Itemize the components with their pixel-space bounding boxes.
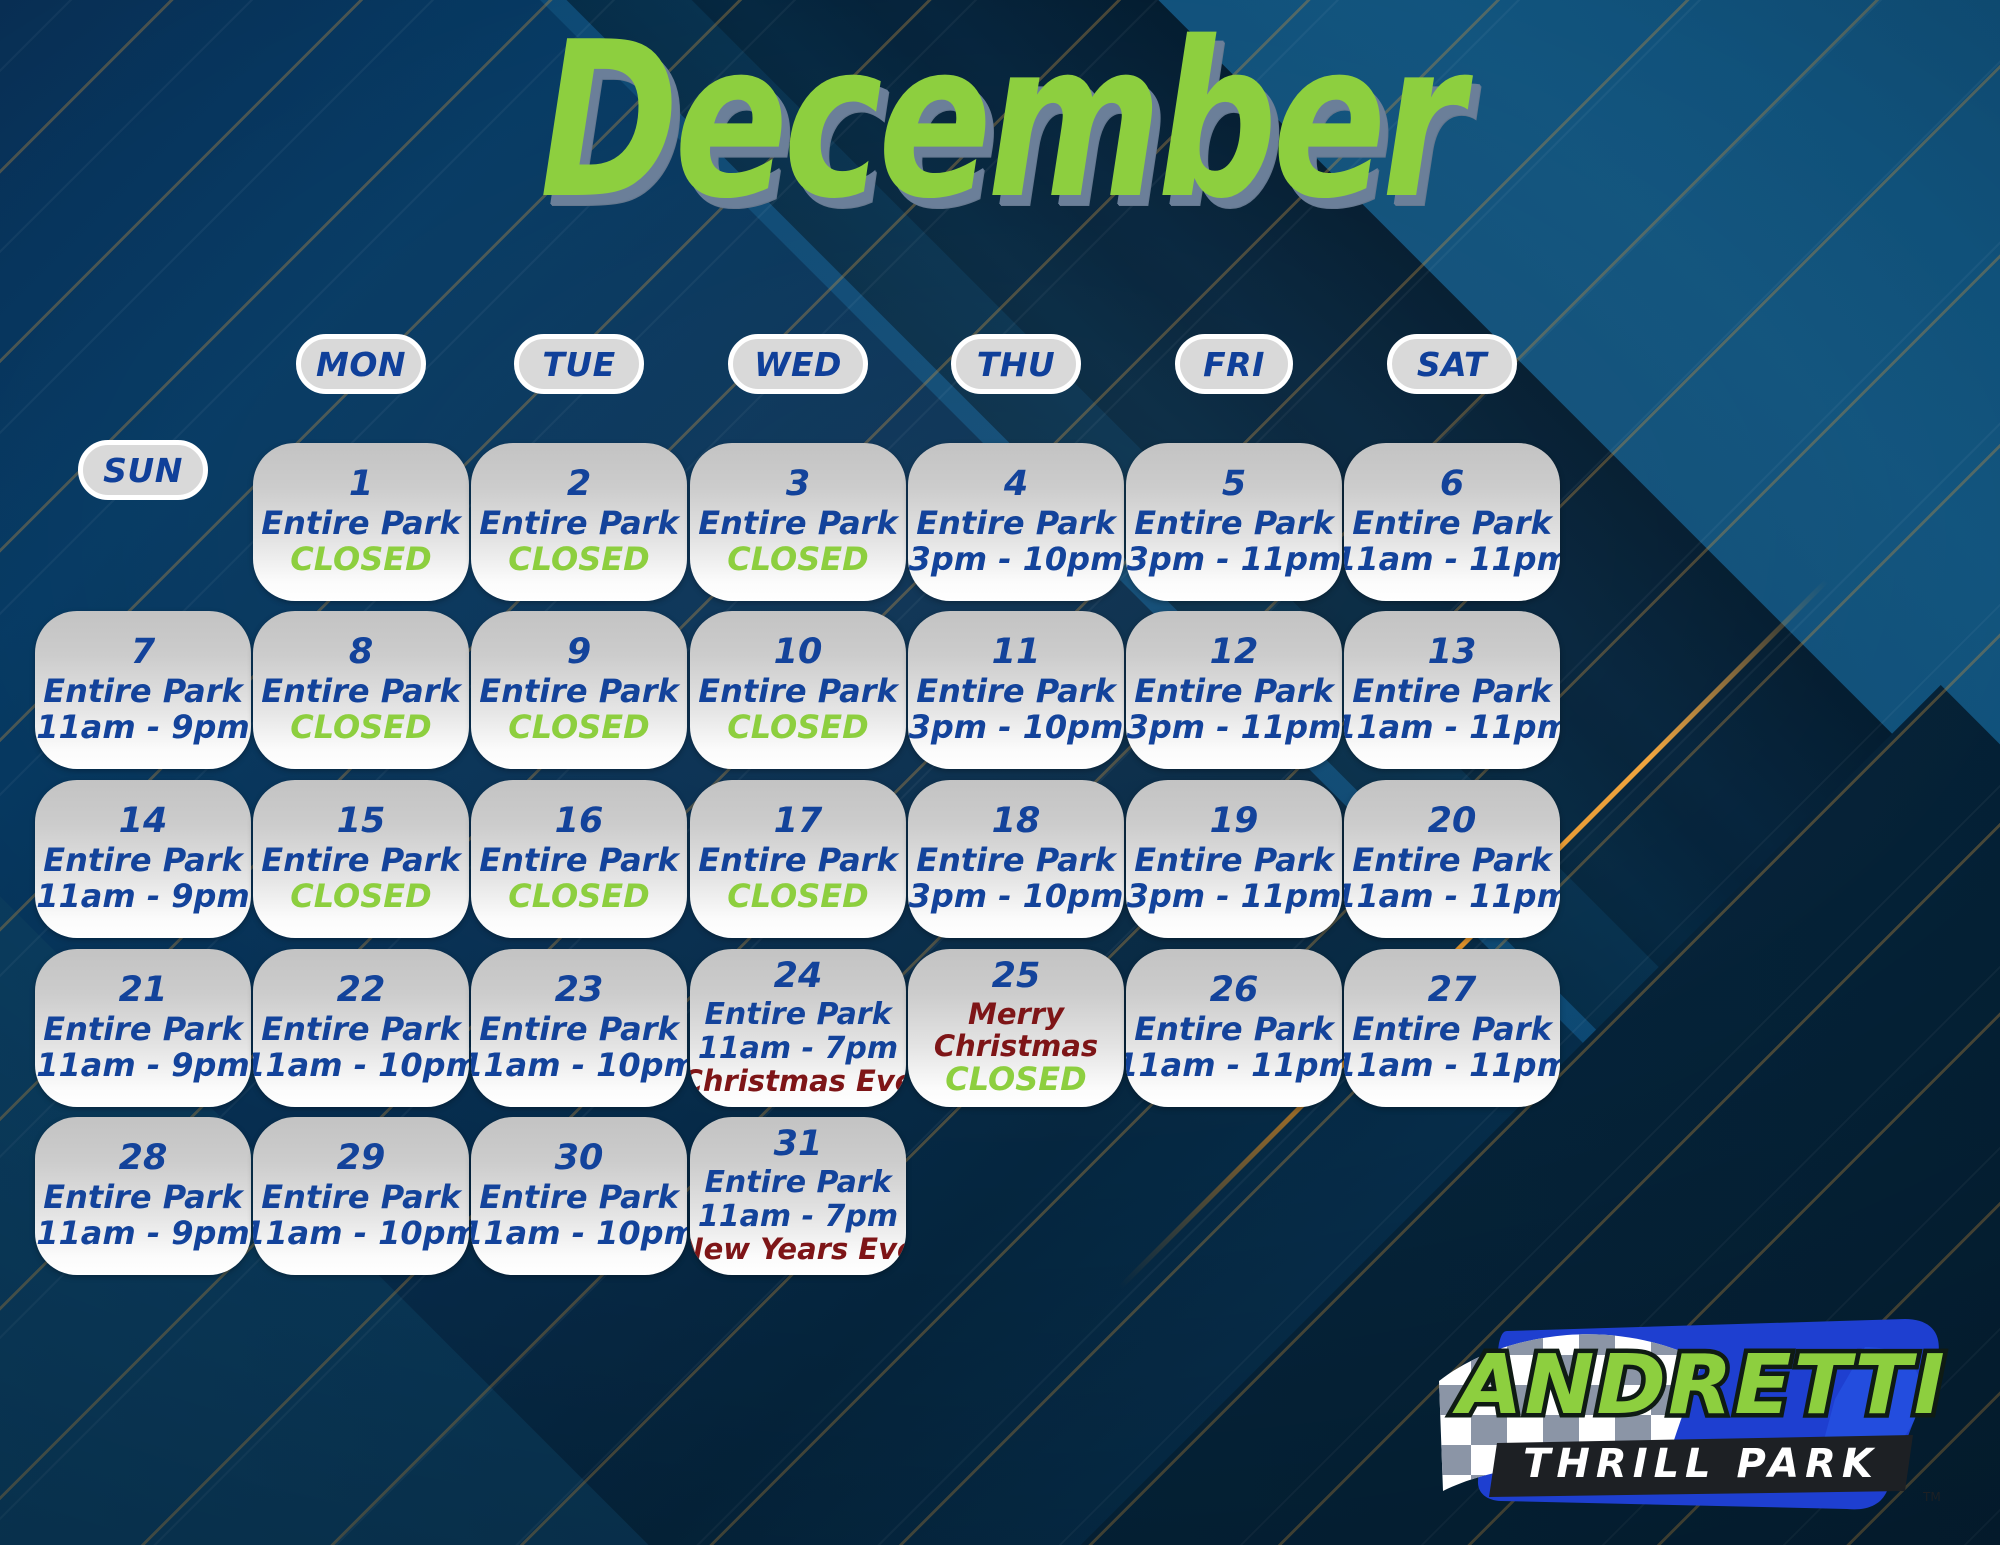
day-number: 1 — [349, 466, 373, 504]
day-cell-line: Merry — [968, 998, 1064, 1030]
day-cell-line: Entire Park — [916, 674, 1116, 710]
day-number: 19 — [1210, 803, 1259, 841]
day-header-wednesday: WED — [728, 334, 868, 394]
day-number: 4 — [1004, 466, 1028, 504]
day-header-tuesday: TUE — [514, 334, 644, 394]
day-number: 26 — [1210, 972, 1259, 1010]
logo-tagline-bar: THRILL PARK — [1489, 1435, 1913, 1497]
day-number: 2 — [567, 466, 591, 504]
day-cell-line: 3pm - 11pm — [1127, 879, 1342, 915]
calendar-day-cell[interactable]: 20Entire Park11am - 11pm — [1344, 780, 1560, 938]
day-cell-line: 11am - 7pm — [698, 1200, 898, 1234]
day-cell-line: Entire Park — [1134, 843, 1334, 879]
logo-svg: ANDRETTI THRILL PARK TM — [1435, 1295, 1955, 1530]
calendar-day-cell[interactable]: 16Entire ParkCLOSED — [471, 780, 687, 938]
day-cell-line: Entire Park — [43, 674, 243, 710]
day-cell-line: Entire Park — [1352, 506, 1552, 542]
day-cell-line: 11am - 9pm — [36, 710, 250, 746]
day-header-sunday: SUN — [78, 440, 208, 500]
day-cell-line: CLOSED — [508, 542, 649, 578]
day-cell-line: 11am - 10pm — [253, 1048, 469, 1084]
day-cell-line: Entire Park — [261, 1180, 461, 1216]
day-cell-line: 3pm - 11pm — [1127, 710, 1342, 746]
calendar-day-cell[interactable]: 25MerryChristmasCLOSED — [908, 949, 1124, 1107]
day-cell-line: Entire Park — [1352, 843, 1552, 879]
day-header-label: THU — [977, 345, 1055, 384]
day-cell-line: 11am - 9pm — [36, 1048, 250, 1084]
day-cell-line: CLOSED — [945, 1062, 1086, 1098]
calendar-day-cell[interactable]: 1Entire ParkCLOSED — [253, 443, 469, 601]
day-cell-line: Entire Park — [698, 843, 898, 879]
calendar-day-cell[interactable]: 11Entire Park3pm - 10pm — [908, 611, 1124, 769]
calendar-day-cell[interactable]: 21Entire Park11am - 9pm — [35, 949, 251, 1107]
day-cell-line: 11am - 11pm — [1126, 1048, 1342, 1084]
day-cell-line: Entire Park — [704, 998, 891, 1032]
day-number: 23 — [555, 972, 604, 1010]
day-header-label: WED — [754, 345, 842, 384]
calendar-day-cell[interactable]: 31Entire Park11am - 7pmNew Years Eve — [690, 1117, 906, 1275]
day-cell-line: Entire Park — [43, 1180, 243, 1216]
day-cell-line: Entire Park — [698, 674, 898, 710]
calendar-day-cell[interactable]: 3Entire ParkCLOSED — [690, 443, 906, 601]
day-cell-line: 3pm - 10pm — [909, 879, 1124, 915]
day-cell-line: Entire Park — [916, 506, 1116, 542]
day-number: 22 — [337, 972, 386, 1010]
calendar-day-cell[interactable]: 17Entire ParkCLOSED — [690, 780, 906, 938]
day-number: 9 — [567, 634, 591, 672]
calendar-day-cell[interactable]: 19Entire Park3pm - 11pm — [1126, 780, 1342, 938]
day-cell-line: Entire Park — [479, 1180, 679, 1216]
calendar-day-cell[interactable]: 26Entire Park11am - 11pm — [1126, 949, 1342, 1107]
day-cell-line: CLOSED — [727, 542, 868, 578]
day-cell-line: Entire Park — [261, 506, 461, 542]
day-cell-line: Entire Park — [479, 843, 679, 879]
day-cell-line: Christmas Eve — [690, 1065, 906, 1097]
day-header-friday: FRI — [1175, 334, 1293, 394]
day-cell-line: 11am - 10pm — [253, 1216, 469, 1252]
day-number: 21 — [119, 972, 168, 1010]
day-number: 17 — [774, 803, 823, 841]
day-cell-line: 3pm - 10pm — [909, 542, 1124, 578]
day-cell-line: Entire Park — [261, 1012, 461, 1048]
day-cell-line: Entire Park — [1134, 1012, 1334, 1048]
calendar-day-cell[interactable]: 12Entire Park3pm - 11pm — [1126, 611, 1342, 769]
day-cell-line: 11am - 10pm — [471, 1216, 687, 1252]
day-number: 12 — [1210, 634, 1259, 672]
calendar-day-cell[interactable]: 10Entire ParkCLOSED — [690, 611, 906, 769]
day-header-label: SAT — [1417, 345, 1487, 384]
logo-brand-text: ANDRETTI — [1452, 1337, 1947, 1433]
logo-tagline-text: THRILL PARK — [1523, 1441, 1879, 1487]
day-number: 15 — [337, 803, 386, 841]
day-number: 5 — [1222, 466, 1246, 504]
day-cell-line: Entire Park — [479, 506, 679, 542]
day-number: 30 — [555, 1140, 604, 1178]
day-cell-line: Entire Park — [1352, 1012, 1552, 1048]
day-number: 6 — [1440, 466, 1464, 504]
day-cell-line: Entire Park — [1134, 506, 1334, 542]
day-cell-line: Entire Park — [1134, 674, 1334, 710]
day-header-monday: MON — [296, 334, 426, 394]
calendar-day-cell[interactable]: 24Entire Park11am - 7pmChristmas Eve — [690, 949, 906, 1107]
logo-trademark: TM — [1922, 1490, 1941, 1504]
calendar-day-cell[interactable]: 28Entire Park11am - 9pm — [35, 1117, 251, 1275]
day-header-label: TUE — [542, 345, 615, 384]
day-cell-line: CLOSED — [508, 879, 649, 915]
day-cell-line: CLOSED — [290, 879, 431, 915]
day-header-thursday: THU — [951, 334, 1081, 394]
day-cell-line: Entire Park — [916, 843, 1116, 879]
day-cell-line: CLOSED — [508, 710, 649, 746]
calendar-day-cell[interactable]: 13Entire Park11am - 11pm — [1344, 611, 1560, 769]
day-number: 27 — [1428, 972, 1477, 1010]
calendar-day-cell[interactable]: 2Entire ParkCLOSED — [471, 443, 687, 601]
day-number: 28 — [119, 1140, 168, 1178]
calendar-day-cell[interactable]: 29Entire Park11am - 10pm — [253, 1117, 469, 1275]
calendar-day-cell[interactable]: 14Entire Park11am - 9pm — [35, 780, 251, 938]
day-cell-line: 3pm - 11pm — [1127, 542, 1342, 578]
day-cell-line: 11am - 11pm — [1344, 542, 1560, 578]
calendar-day-cell[interactable]: 8Entire ParkCLOSED — [253, 611, 469, 769]
andretti-thrill-park-logo: ANDRETTI THRILL PARK TM — [1435, 1295, 1955, 1530]
day-cell-line: 3pm - 10pm — [909, 710, 1124, 746]
day-header-label: SUN — [103, 451, 183, 490]
calendar-day-cell[interactable]: 4Entire Park3pm - 10pm — [908, 443, 1124, 601]
day-cell-line: Entire Park — [43, 843, 243, 879]
day-header-saturday: SAT — [1387, 334, 1517, 394]
day-number: 14 — [119, 803, 168, 841]
day-cell-line: 11am - 11pm — [1344, 710, 1560, 746]
calendar-day-cell[interactable]: 22Entire Park11am - 10pm — [253, 949, 469, 1107]
day-cell-line: 11am - 11pm — [1344, 879, 1560, 915]
day-number: 8 — [349, 634, 373, 672]
day-number: 3 — [786, 466, 810, 504]
day-number: 29 — [337, 1140, 386, 1178]
calendar-day-cell[interactable]: 9Entire ParkCLOSED — [471, 611, 687, 769]
day-number: 24 — [774, 958, 823, 996]
day-number: 11 — [992, 634, 1041, 672]
day-cell-line: 11am - 7pm — [698, 1032, 898, 1066]
day-cell-line: CLOSED — [727, 710, 868, 746]
day-header-label: MON — [316, 345, 406, 384]
day-header-label: FRI — [1203, 345, 1265, 384]
day-cell-line: Entire Park — [479, 1012, 679, 1048]
day-cell-line: Entire Park — [261, 674, 461, 710]
day-number: 13 — [1428, 634, 1477, 672]
calendar-day-cell[interactable]: 30Entire Park11am - 10pm — [471, 1117, 687, 1275]
day-number: 31 — [774, 1126, 823, 1164]
calendar-day-cell[interactable]: 15Entire ParkCLOSED — [253, 780, 469, 938]
day-cell-line: 11am - 9pm — [36, 879, 250, 915]
calendar-day-cell[interactable]: 6Entire Park11am - 11pm — [1344, 443, 1560, 601]
day-cell-line: Christmas — [934, 1030, 1098, 1062]
day-cell-line: CLOSED — [290, 542, 431, 578]
calendar-day-cell[interactable]: 23Entire Park11am - 10pm — [471, 949, 687, 1107]
calendar-day-cell[interactable]: 18Entire Park3pm - 10pm — [908, 780, 1124, 938]
calendar-day-cell[interactable]: 27Entire Park11am - 11pm — [1344, 949, 1560, 1107]
day-cell-line: Entire Park — [261, 843, 461, 879]
day-number: 20 — [1428, 803, 1477, 841]
day-cell-line: Entire Park — [479, 674, 679, 710]
day-number: 18 — [992, 803, 1041, 841]
day-cell-line: New Years Eve — [690, 1233, 906, 1265]
calendar-day-cell[interactable]: 7Entire Park11am - 9pm — [35, 611, 251, 769]
day-number: 10 — [774, 634, 823, 672]
day-cell-line: 11am - 10pm — [471, 1048, 687, 1084]
day-cell-line: 11am - 9pm — [36, 1216, 250, 1252]
day-number: 25 — [992, 958, 1041, 996]
day-cell-line: CLOSED — [290, 710, 431, 746]
calendar-day-cell[interactable]: 5Entire Park3pm - 11pm — [1126, 443, 1342, 601]
day-number: 7 — [131, 634, 155, 672]
day-number: 16 — [555, 803, 604, 841]
day-cell-line: Entire Park — [1352, 674, 1552, 710]
day-cell-line: Entire Park — [704, 1166, 891, 1200]
day-cell-line: Entire Park — [43, 1012, 243, 1048]
day-cell-line: 11am - 11pm — [1344, 1048, 1560, 1084]
day-cell-line: Entire Park — [698, 506, 898, 542]
day-cell-line: CLOSED — [727, 879, 868, 915]
